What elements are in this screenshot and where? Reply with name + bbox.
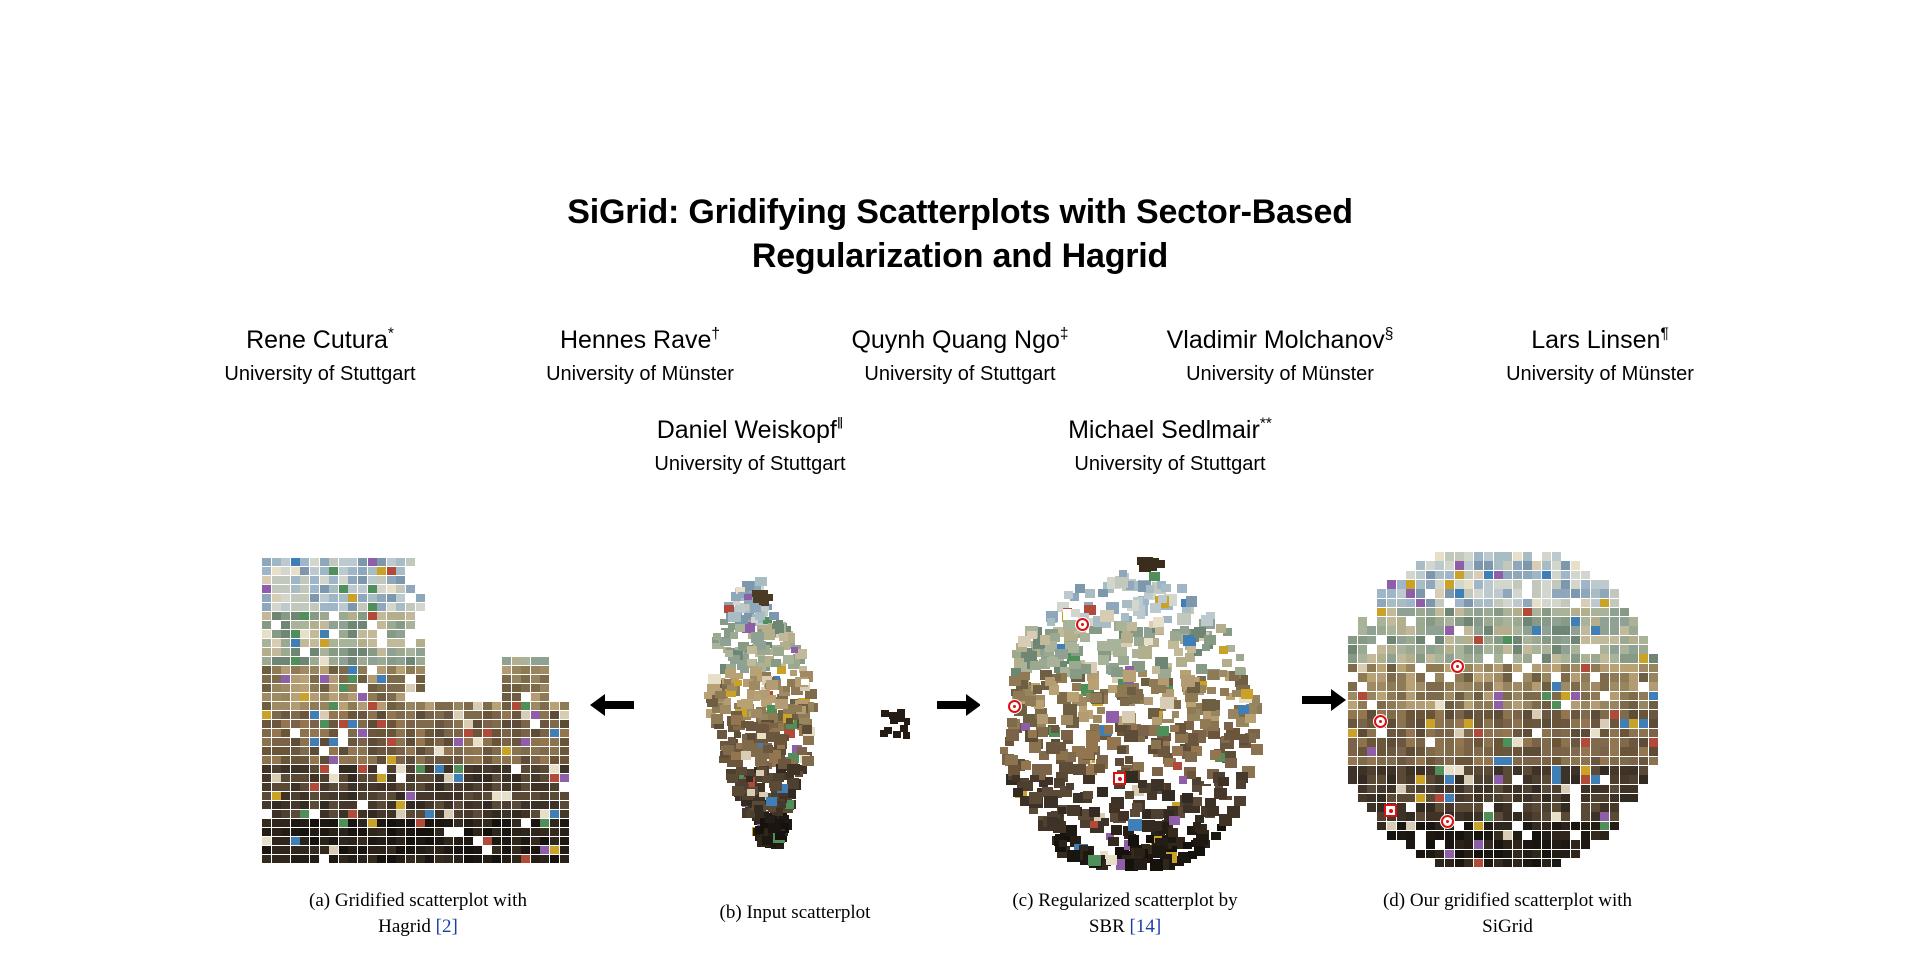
thumbnail-tile xyxy=(1127,622,1137,631)
author-name: Rene Cutura* xyxy=(160,325,480,355)
thumbnail-tile xyxy=(329,729,338,737)
thumbnail-tile xyxy=(1474,617,1483,626)
thumbnail-tile xyxy=(348,639,357,647)
thumbnail-tile xyxy=(1610,794,1619,803)
thumbnail-tile xyxy=(1445,645,1454,654)
thumbnail-tile xyxy=(1523,710,1532,719)
thumbnail-tile xyxy=(783,655,794,664)
thumbnail-tile xyxy=(291,819,300,827)
thumbnail-tile xyxy=(368,657,377,665)
thumbnail-tile xyxy=(473,711,482,719)
thumbnail-tile xyxy=(1610,636,1619,645)
thumbnail-tile xyxy=(262,837,271,845)
thumbnail-tile xyxy=(1128,819,1141,831)
thumbnail-tile xyxy=(550,756,559,764)
thumbnail-tile xyxy=(377,594,386,602)
thumbnail-tile xyxy=(1600,701,1609,710)
thumbnail-tile xyxy=(320,594,329,602)
thumbnail-tile xyxy=(1552,785,1561,794)
thumbnail-tile xyxy=(540,738,549,746)
thumbnail-tile xyxy=(1106,855,1118,866)
thumbnail-tile xyxy=(1435,859,1444,867)
thumbnail-tile xyxy=(1581,589,1590,598)
thumbnail-tile xyxy=(521,729,530,737)
thumbnail-tile xyxy=(1426,682,1435,691)
thumbnail-tile xyxy=(1552,822,1561,831)
thumbnail-tile xyxy=(550,783,559,791)
thumbnail-tile xyxy=(1168,828,1178,837)
thumbnail-tile xyxy=(310,675,319,683)
thumbnail-tile xyxy=(1239,734,1249,743)
thumbnail-tile xyxy=(502,792,511,800)
thumbnail-tile xyxy=(473,765,482,773)
thumbnail-tile xyxy=(790,670,797,676)
thumbnail-tile xyxy=(387,828,396,836)
thumbnail-tile xyxy=(348,738,357,746)
thumbnail-tile xyxy=(348,711,357,719)
thumbnail-tile xyxy=(531,666,540,674)
thumbnail-tile xyxy=(1542,617,1551,626)
thumbnail-tile xyxy=(396,603,405,611)
thumbnail-tile xyxy=(502,756,511,764)
thumbnail-tile xyxy=(1591,822,1600,831)
thumbnail-tile xyxy=(1182,793,1192,802)
thumbnail-tile xyxy=(1435,747,1444,756)
thumbnail-tile xyxy=(521,801,530,809)
thumbnail-tile xyxy=(272,675,281,683)
thumbnail-tile xyxy=(1387,664,1396,673)
thumbnail-tile xyxy=(1610,719,1619,728)
thumbnail-tile xyxy=(358,657,367,665)
thumbnail-tile xyxy=(1130,809,1139,817)
thumbnail-tile xyxy=(1202,644,1211,652)
thumbnail-tile xyxy=(1552,552,1561,561)
thumbnail-tile xyxy=(272,828,281,836)
thumbnail-tile xyxy=(1387,831,1396,840)
caption-panel-d: (d) Our gridified scatterplot with SiGri… xyxy=(1350,888,1665,940)
thumbnail-tile xyxy=(1455,636,1464,645)
thumbnail-tile xyxy=(1513,812,1522,821)
thumbnail-tile xyxy=(320,585,329,593)
thumbnail-tile xyxy=(1610,673,1619,682)
thumbnail-tile xyxy=(502,684,511,692)
thumbnail-tile xyxy=(1406,571,1415,580)
thumbnail-tile xyxy=(406,657,415,665)
thumbnail-tile xyxy=(502,711,511,719)
thumbnail-tile xyxy=(1629,682,1638,691)
thumbnail-tile xyxy=(1474,794,1483,803)
thumbnail-tile xyxy=(1072,683,1080,690)
thumbnail-tile xyxy=(329,747,338,755)
thumbnail-tile xyxy=(358,846,367,854)
thumbnail-tile xyxy=(1348,738,1357,747)
thumbnail-tile xyxy=(1513,589,1522,598)
thumbnail-tile xyxy=(310,693,319,701)
thumbnail-tile xyxy=(1406,812,1415,821)
thumbnail-tile xyxy=(1348,719,1357,728)
thumbnail-tile xyxy=(272,801,281,809)
author-affiliation: University of Stuttgart xyxy=(800,361,1120,387)
thumbnail-tile xyxy=(396,621,405,629)
thumbnail-tile xyxy=(502,693,511,701)
thumbnail-tile xyxy=(1649,682,1658,691)
thumbnail-tile xyxy=(797,747,806,755)
thumbnail-tile xyxy=(291,558,300,566)
thumbnail-tile xyxy=(1561,608,1570,617)
scatterplot-gridified-sigrid[interactable] xyxy=(1348,552,1660,867)
thumbnail-tile xyxy=(1387,822,1396,831)
thumbnail-tile xyxy=(1610,599,1619,608)
thumbnail-tile xyxy=(300,567,309,575)
thumbnail-tile xyxy=(348,612,357,620)
thumbnail-tile xyxy=(1523,785,1532,794)
thumbnail-tile xyxy=(1561,757,1570,766)
thumbnail-tile xyxy=(358,639,367,647)
thumbnail-tile xyxy=(300,792,309,800)
thumbnail-tile xyxy=(339,558,348,566)
thumbnail-tile xyxy=(1236,780,1246,789)
thumbnail-tile xyxy=(1406,766,1415,775)
thumbnail-tile xyxy=(1138,780,1148,789)
thumbnail-tile xyxy=(744,594,752,601)
thumbnail-tile xyxy=(1581,682,1590,691)
thumbnail-tile xyxy=(1455,673,1464,682)
thumbnail-tile xyxy=(1367,682,1376,691)
thumbnail-tile xyxy=(1416,692,1425,701)
thumbnail-tile xyxy=(1387,608,1396,617)
scatterplot-gridified-hagrid[interactable] xyxy=(262,558,574,868)
thumbnail-tile xyxy=(377,792,386,800)
thumbnail-tile xyxy=(1150,603,1161,613)
thumbnail-tile xyxy=(368,792,377,800)
thumbnail-tile xyxy=(1552,701,1561,710)
thumbnail-tile xyxy=(406,837,415,845)
thumbnail-tile xyxy=(1377,766,1386,775)
thumbnail-tile xyxy=(406,585,415,593)
thumbnail-tile xyxy=(1532,775,1541,784)
thumbnail-tile xyxy=(521,666,530,674)
thumbnail-tile xyxy=(272,792,281,800)
thumbnail-tile xyxy=(1620,608,1629,617)
thumbnail-tile xyxy=(1610,701,1619,710)
author-name: Vladimir Molchanov§ xyxy=(1120,325,1440,355)
thumbnail-tile xyxy=(329,828,338,836)
thumbnail-tile xyxy=(281,729,290,737)
thumbnail-tile xyxy=(377,729,386,737)
thumbnail-tile xyxy=(1639,729,1648,738)
thumbnail-tile xyxy=(1435,785,1444,794)
thumbnail-tile xyxy=(1503,552,1512,561)
thumbnail-tile xyxy=(396,648,405,656)
thumbnail-tile xyxy=(1571,831,1580,840)
thumbnail-tile xyxy=(1610,822,1619,831)
thumbnail-tile xyxy=(368,855,377,863)
thumbnail-tile xyxy=(1358,617,1367,626)
thumbnail-tile xyxy=(1620,682,1629,691)
thumbnail-tile xyxy=(329,603,338,611)
thumbnail-tile xyxy=(801,679,809,685)
thumbnail-tile xyxy=(1591,664,1600,673)
thumbnail-tile xyxy=(320,828,329,836)
thumbnail-tile xyxy=(1196,664,1207,674)
thumbnail-tile xyxy=(793,705,802,712)
thumbnail-tile xyxy=(406,720,415,728)
thumbnail-tile xyxy=(348,666,357,674)
thumbnail-tile xyxy=(512,855,521,863)
thumbnail-tile xyxy=(1063,619,1076,630)
thumbnail-tile xyxy=(1474,599,1483,608)
thumbnail-tile xyxy=(483,828,492,836)
thumbnail-tile xyxy=(329,675,338,683)
scatterplot-regularized-sbr[interactable] xyxy=(980,552,1270,872)
thumbnail-tile xyxy=(521,783,530,791)
thumbnail-tile xyxy=(320,738,329,746)
thumbnail-tile xyxy=(1503,766,1512,775)
thumbnail-tile xyxy=(368,585,377,593)
thumbnail-tile xyxy=(531,846,540,854)
thumbnail-tile xyxy=(1542,738,1551,747)
thumbnail-tile xyxy=(416,810,425,818)
thumbnail-tile xyxy=(1581,766,1590,775)
thumbnail-tile xyxy=(1561,673,1570,682)
thumbnail-tile xyxy=(1600,673,1609,682)
thumbnail-tile xyxy=(1387,747,1396,756)
author-name-text: Daniel Weiskopf xyxy=(657,416,837,444)
thumbnail-tile xyxy=(1581,840,1590,849)
thumbnail-tile xyxy=(281,855,290,863)
thumbnail-tile xyxy=(1591,785,1600,794)
thumbnail-tile xyxy=(272,765,281,773)
thumbnail-tile xyxy=(416,774,425,782)
thumbnail-tile xyxy=(1552,692,1561,701)
author-list-row-2: Daniel Weiskopf‖ University of Stuttgart… xyxy=(600,415,1320,477)
thumbnail-tile xyxy=(1600,710,1609,719)
thumbnail-tile xyxy=(368,765,377,773)
thumbnail-tile xyxy=(1561,803,1570,812)
thumbnail-tile xyxy=(1542,580,1551,589)
thumbnail-tile xyxy=(1435,719,1444,728)
thumbnail-tile xyxy=(1503,626,1512,635)
thumbnail-tile xyxy=(1406,822,1415,831)
thumbnail-tile xyxy=(1513,701,1522,710)
thumbnail-tile xyxy=(1552,682,1561,691)
thumbnail-tile xyxy=(761,594,769,601)
thumbnail-tile xyxy=(1348,766,1357,775)
thumbnail-tile xyxy=(1474,636,1483,645)
thumbnail-tile xyxy=(1426,608,1435,617)
thumbnail-tile xyxy=(435,702,444,710)
scatterplot-input[interactable] xyxy=(680,570,910,860)
thumbnail-tile xyxy=(339,810,348,818)
thumbnail-tile xyxy=(1600,636,1609,645)
thumbnail-tile xyxy=(1620,775,1629,784)
thumbnail-tile xyxy=(320,702,329,710)
caption-panel-c: (c) Regularized scatterplot by SBR [14] xyxy=(975,888,1275,940)
thumbnail-tile xyxy=(396,666,405,674)
thumbnail-tile xyxy=(531,711,540,719)
thumbnail-tile xyxy=(281,567,290,575)
thumbnail-tile xyxy=(358,576,367,584)
thumbnail-tile xyxy=(1474,859,1483,867)
thumbnail-tile xyxy=(348,567,357,575)
thumbnail-tile xyxy=(1542,626,1551,635)
thumbnail-tile xyxy=(1581,738,1590,747)
thumbnail-tile xyxy=(1474,775,1483,784)
thumbnail-tile xyxy=(1532,645,1541,654)
thumbnail-tile xyxy=(1494,850,1503,859)
thumbnail-tile xyxy=(1571,822,1580,831)
thumbnail-tile xyxy=(1033,685,1042,693)
thumbnail-tile xyxy=(1067,805,1080,816)
thumbnail-tile xyxy=(348,693,357,701)
thumbnail-tile xyxy=(1464,831,1473,840)
thumbnail-tile xyxy=(473,837,482,845)
thumbnail-tile xyxy=(1503,561,1512,570)
thumbnail-tile xyxy=(540,711,549,719)
thumbnail-tile xyxy=(272,774,281,782)
thumbnail-tile xyxy=(435,846,444,854)
thumbnail-tile xyxy=(1377,775,1386,784)
thumbnail-tile xyxy=(310,765,319,773)
thumbnail-tile xyxy=(1600,589,1609,598)
thumbnail-tile xyxy=(291,630,300,638)
page-title-line-1: SiGrid: Gridifying Scatterplots with Sec… xyxy=(0,190,1920,234)
thumbnail-tile xyxy=(1532,580,1541,589)
thumbnail-tile xyxy=(1600,664,1609,673)
thumbnail-tile xyxy=(1406,785,1415,794)
author-entry-rene-cutura: Rene Cutura* University of Stuttgart xyxy=(160,325,480,387)
thumbnail-tile xyxy=(310,702,319,710)
thumbnail-tile xyxy=(1600,794,1609,803)
thumbnail-tile xyxy=(1141,678,1150,686)
thumbnail-tile xyxy=(1629,785,1638,794)
thumbnail-tile xyxy=(310,576,319,584)
thumbnail-tile xyxy=(512,837,521,845)
thumbnail-tile xyxy=(1581,812,1590,821)
thumbnail-tile xyxy=(300,576,309,584)
thumbnail-tile xyxy=(1426,571,1435,580)
thumbnail-tile xyxy=(272,567,281,575)
thumbnail-tile xyxy=(512,846,521,854)
thumbnail-tile xyxy=(1600,654,1609,663)
thumbnail-tile xyxy=(1445,840,1454,849)
thumbnail-tile xyxy=(1464,719,1473,728)
thumbnail-tile xyxy=(483,819,492,827)
thumbnail-tile xyxy=(387,630,396,638)
thumbnail-tile xyxy=(396,684,405,692)
thumbnail-tile xyxy=(1435,608,1444,617)
thumbnail-tile xyxy=(1219,814,1233,826)
thumbnail-tile xyxy=(1377,673,1386,682)
thumbnail-tile xyxy=(1484,599,1493,608)
thumbnail-tile xyxy=(1610,617,1619,626)
thumbnail-tile xyxy=(1542,785,1551,794)
thumbnail-tile xyxy=(358,594,367,602)
thumbnail-tile xyxy=(1116,621,1127,631)
citation-link[interactable]: [14] xyxy=(1130,916,1162,937)
thumbnail-tile xyxy=(464,720,473,728)
thumbnail-tile xyxy=(329,666,338,674)
thumbnail-tile xyxy=(310,774,319,782)
thumbnail-tile xyxy=(281,792,290,800)
author-affiliation: University of Stuttgart xyxy=(600,451,900,477)
thumbnail-tile xyxy=(1406,645,1415,654)
thumbnail-tile xyxy=(435,810,444,818)
thumbnail-tile xyxy=(396,828,405,836)
thumbnail-tile xyxy=(512,738,521,746)
thumbnail-tile xyxy=(406,783,415,791)
thumbnail-tile xyxy=(1377,654,1386,663)
thumbnail-tile xyxy=(320,666,329,674)
thumbnail-tile xyxy=(1503,589,1512,598)
thumbnail-tile xyxy=(560,783,569,791)
thumbnail-tile xyxy=(329,657,338,665)
thumbnail-tile xyxy=(1494,747,1503,756)
thumbnail-tile xyxy=(560,801,569,809)
citation-link[interactable]: [2] xyxy=(436,916,458,937)
thumbnail-tile xyxy=(1445,859,1454,867)
thumbnail-tile xyxy=(1123,670,1136,681)
thumbnail-tile xyxy=(777,666,786,673)
thumbnail-tile xyxy=(1591,803,1600,812)
thumbnail-tile xyxy=(1018,636,1030,647)
thumbnail-tile xyxy=(1484,617,1493,626)
thumbnail-tile xyxy=(1494,859,1503,867)
thumbnail-tile xyxy=(291,585,300,593)
thumbnail-tile xyxy=(1149,572,1159,581)
thumbnail-tile xyxy=(1377,617,1386,626)
thumbnail-tile xyxy=(262,585,271,593)
thumbnail-tile xyxy=(1426,775,1435,784)
caption-line: Hagrid [2] xyxy=(268,914,568,940)
thumbnail-tile xyxy=(521,792,530,800)
thumbnail-tile xyxy=(416,594,425,602)
thumbnail-tile xyxy=(502,810,511,818)
thumbnail-tile xyxy=(291,855,300,863)
thumbnail-tile xyxy=(339,855,348,863)
thumbnail-tile xyxy=(348,603,357,611)
thumbnail-tile xyxy=(262,720,271,728)
thumbnail-tile xyxy=(1075,584,1085,593)
thumbnail-tile xyxy=(1367,673,1376,682)
thumbnail-tile xyxy=(502,702,511,710)
thumbnail-tile xyxy=(444,783,453,791)
thumbnail-tile xyxy=(396,630,405,638)
thumbnail-tile xyxy=(1561,617,1570,626)
thumbnail-tile xyxy=(1513,692,1522,701)
highlight-marker xyxy=(1008,700,1021,713)
thumbnail-tile xyxy=(339,648,348,656)
thumbnail-tile xyxy=(425,846,434,854)
thumbnail-tile xyxy=(262,630,271,638)
thumbnail-tile xyxy=(1464,757,1473,766)
thumbnail-tile xyxy=(300,585,309,593)
thumbnail-tile xyxy=(531,765,540,773)
thumbnail-tile xyxy=(406,855,415,863)
thumbnail-tile xyxy=(1532,599,1541,608)
thumbnail-tile xyxy=(300,612,309,620)
thumbnail-tile xyxy=(348,765,357,773)
thumbnail-tile xyxy=(1157,726,1169,736)
thumbnail-tile xyxy=(1202,699,1216,711)
thumbnail-tile xyxy=(1600,729,1609,738)
thumbnail-tile xyxy=(512,774,521,782)
thumbnail-tile xyxy=(272,837,281,845)
thumbnail-tile xyxy=(329,756,338,764)
thumbnail-tile xyxy=(1358,729,1367,738)
thumbnail-tile xyxy=(1513,757,1522,766)
thumbnail-tile xyxy=(473,783,482,791)
